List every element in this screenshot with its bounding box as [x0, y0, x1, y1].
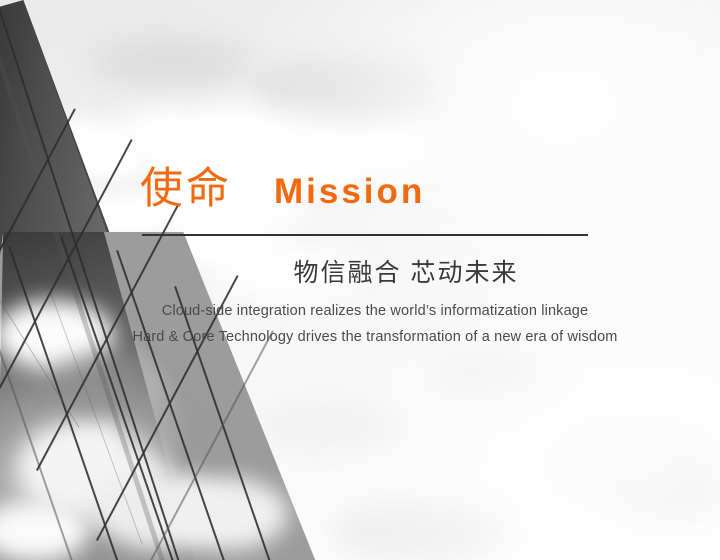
mission-banner: 使命 Mission 物信融合 芯动未来 Cloud-side integrat…: [0, 0, 720, 560]
subtitle-chinese: 物信融合 芯动未来: [0, 258, 720, 288]
heading-chinese: 使命: [140, 168, 232, 211]
heading-divider: [142, 234, 588, 236]
tagline-line-1: Cloud-side integration realizes the worl…: [0, 303, 720, 319]
heading-english: Mission: [274, 174, 425, 209]
tagline-line-2: Hard & Core Technology drives the transf…: [0, 329, 720, 345]
banner-content: 使命 Mission 物信融合 芯动未来 Cloud-side integrat…: [0, 0, 720, 560]
mission-heading: 使命 Mission: [140, 168, 425, 211]
